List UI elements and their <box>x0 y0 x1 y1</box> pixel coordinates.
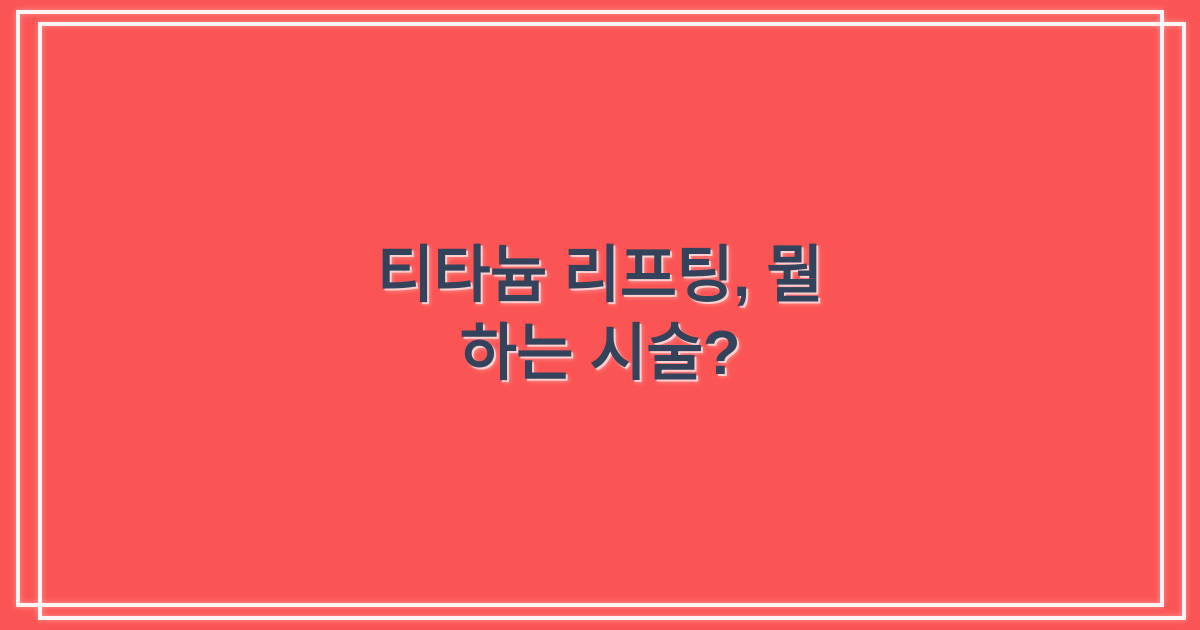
page-title: 티타늄 리프팅, 뭘 하는 시술? <box>0 0 1200 630</box>
page-title-line-2: 하는 시술? <box>460 315 740 393</box>
thumbnail-card: 티타늄 리프팅, 뭘 하는 시술? <box>0 0 1200 630</box>
page-title-line-1: 티타늄 리프팅, 뭘 <box>377 237 823 315</box>
